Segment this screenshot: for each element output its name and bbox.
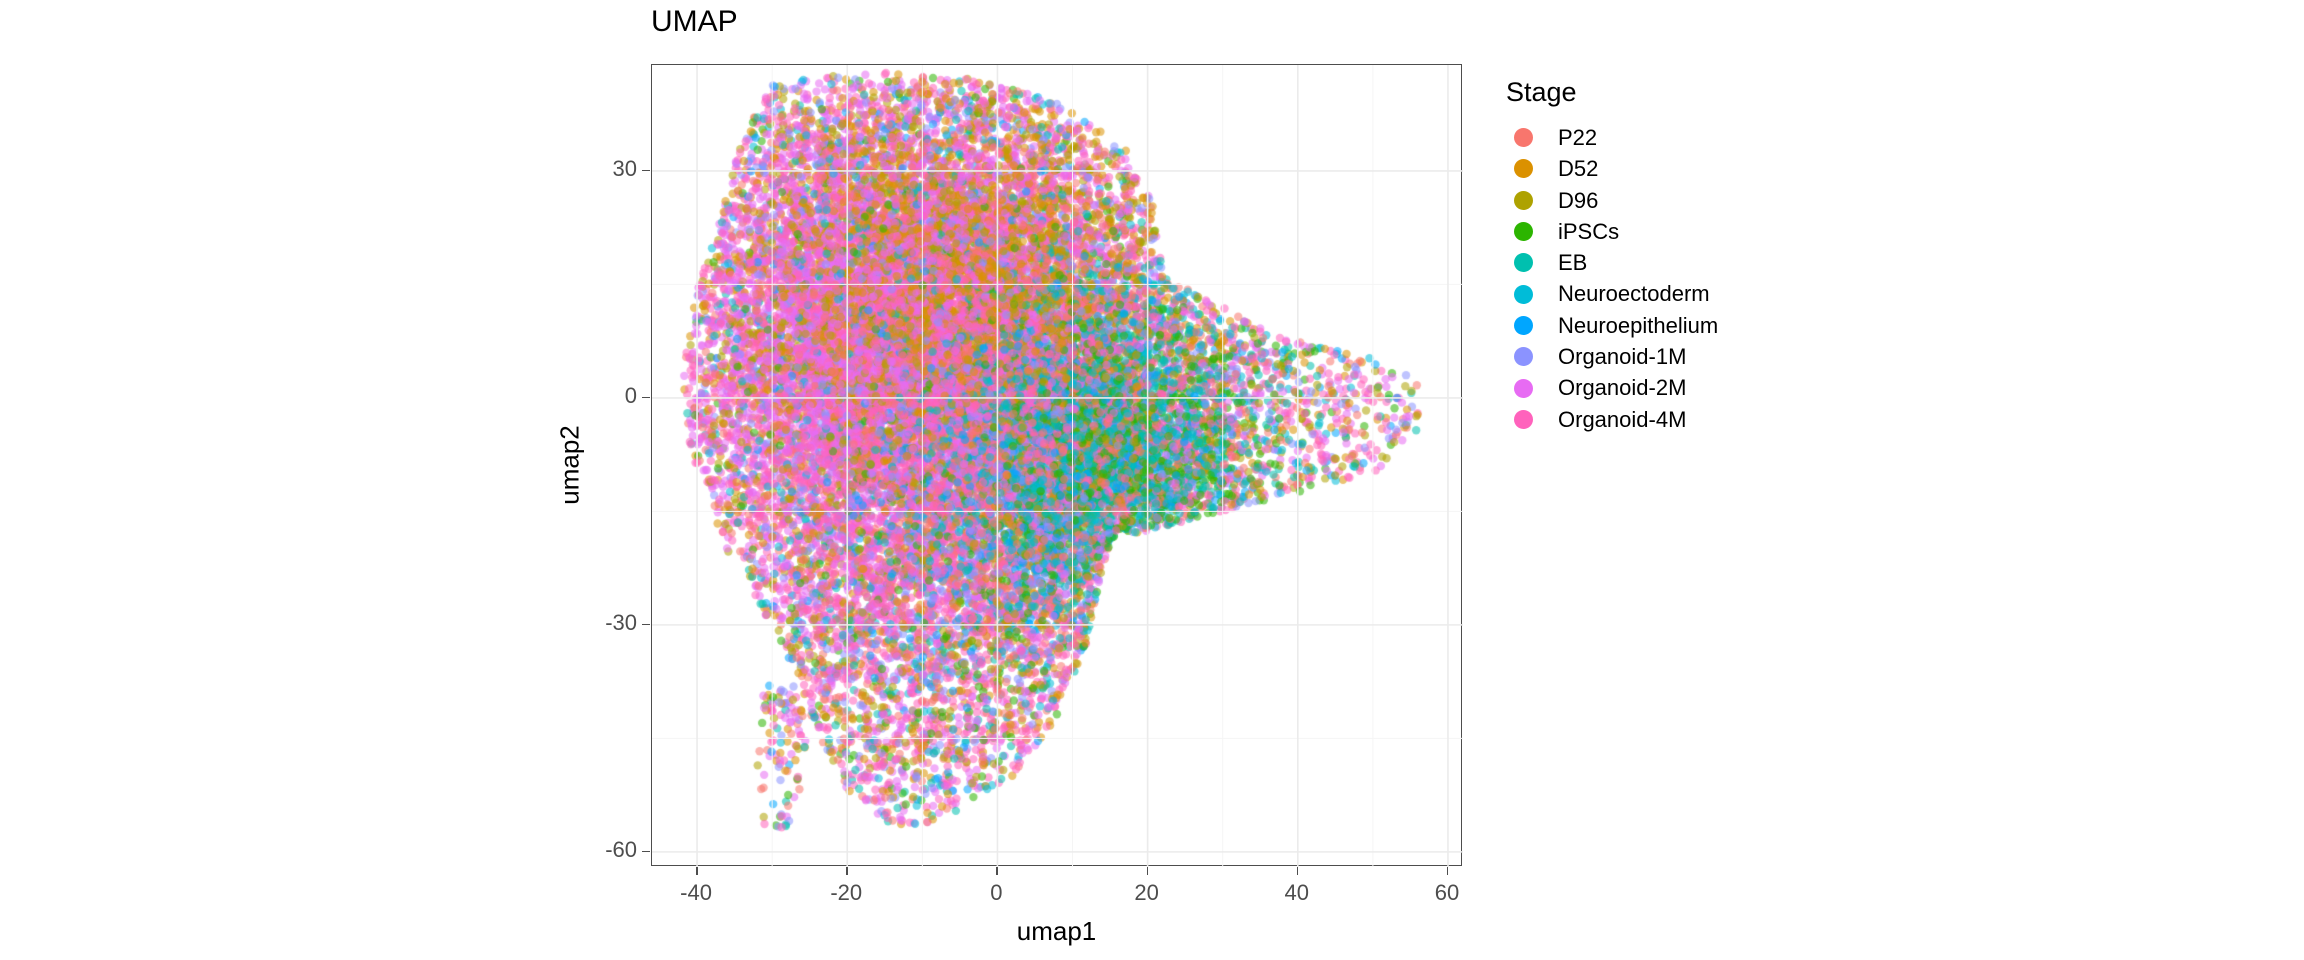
x-axis-title: umap1 [651, 916, 1462, 947]
y-tick-label: 0 [585, 383, 637, 409]
x-tick-label: 40 [1257, 880, 1337, 906]
scatter-points-canvas [652, 65, 1463, 867]
y-tick-label: -60 [585, 837, 637, 863]
x-tick-mark [846, 867, 848, 875]
legend-item-label: Organoid-1M [1558, 341, 1686, 372]
legend-item-label: Neuroectoderm [1558, 278, 1710, 309]
x-tick-mark [696, 867, 698, 875]
legend-title: Stage [1506, 76, 1906, 108]
legend-swatch-icon [1506, 153, 1540, 184]
legend-item-label: Organoid-2M [1558, 372, 1686, 403]
y-tick-mark [642, 851, 650, 853]
legend-item-neuroectoderm[interactable]: Neuroectoderm [1506, 278, 1906, 309]
legend-swatch-icon [1506, 247, 1540, 278]
legend: Stage P22D52D96iPSCsEBNeuroectodermNeuro… [1506, 76, 1906, 435]
y-tick-mark [642, 624, 650, 626]
y-tick-mark [642, 170, 650, 172]
x-tick-label: 60 [1407, 880, 1487, 906]
legend-item-label: D96 [1558, 185, 1598, 216]
y-tick-mark [642, 397, 650, 399]
legend-item-label: P22 [1558, 122, 1597, 153]
legend-item-p22[interactable]: P22 [1506, 122, 1906, 153]
legend-item-organoid-4m[interactable]: Organoid-4M [1506, 404, 1906, 435]
y-axis-title: umap2 [555, 425, 586, 505]
y-tick-label: -30 [585, 610, 637, 636]
x-tick-mark [1297, 867, 1299, 875]
plot-panel [651, 64, 1462, 866]
legend-swatch-icon [1506, 341, 1540, 372]
x-tick-mark [996, 867, 998, 875]
x-tick-mark [1147, 867, 1149, 875]
legend-swatch-icon [1506, 404, 1540, 435]
legend-swatch-icon [1506, 185, 1540, 216]
legend-swatch-icon [1506, 122, 1540, 153]
legend-item-eb[interactable]: EB [1506, 247, 1906, 278]
legend-item-organoid-1m[interactable]: Organoid-1M [1506, 341, 1906, 372]
legend-item-label: EB [1558, 247, 1587, 278]
legend-item-ipscs[interactable]: iPSCs [1506, 216, 1906, 247]
legend-item-label: D52 [1558, 153, 1598, 184]
x-tick-mark [1447, 867, 1449, 875]
legend-item-d52[interactable]: D52 [1506, 153, 1906, 184]
legend-item-label: Organoid-4M [1558, 404, 1686, 435]
y-tick-label: 30 [585, 156, 637, 182]
legend-swatch-icon [1506, 278, 1540, 309]
legend-swatch-icon [1506, 310, 1540, 341]
legend-items: P22D52D96iPSCsEBNeuroectodermNeuroepithe… [1506, 122, 1906, 435]
legend-item-neuroepithelium[interactable]: Neuroepithelium [1506, 310, 1906, 341]
legend-swatch-icon [1506, 372, 1540, 403]
legend-swatch-icon [1506, 216, 1540, 247]
legend-item-label: Neuroepithelium [1558, 310, 1718, 341]
x-tick-label: 0 [956, 880, 1036, 906]
x-tick-label: -40 [656, 880, 736, 906]
legend-item-d96[interactable]: D96 [1506, 185, 1906, 216]
legend-item-organoid-2m[interactable]: Organoid-2M [1506, 372, 1906, 403]
umap-scatter-plot: UMAP umap1 umap2 Stage P22D52D96iPSCsEBN… [0, 0, 2304, 960]
x-tick-label: -20 [806, 880, 886, 906]
page-title: UMAP [651, 2, 738, 42]
legend-item-label: iPSCs [1558, 216, 1619, 247]
x-tick-label: 20 [1107, 880, 1187, 906]
